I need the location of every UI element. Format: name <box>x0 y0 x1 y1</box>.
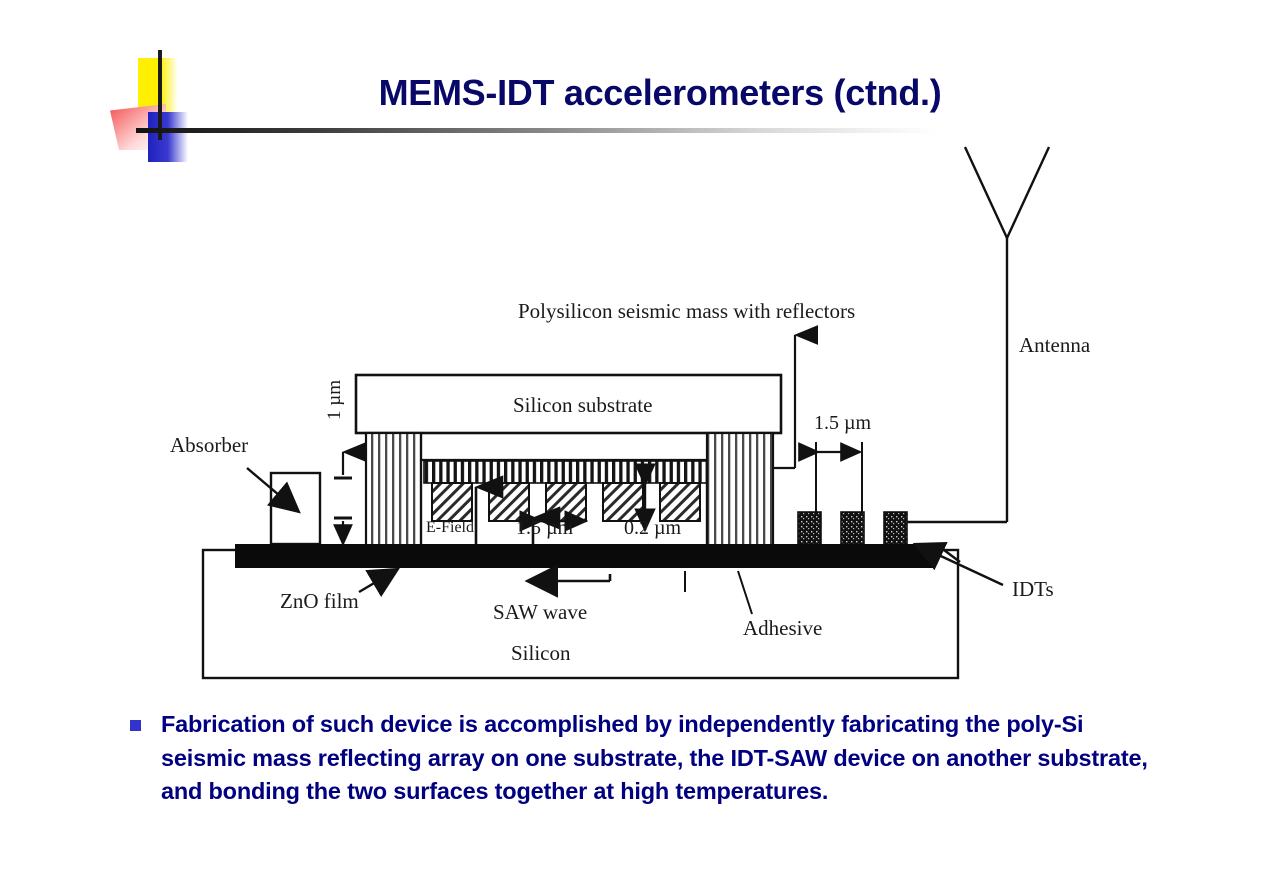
reflector-comb-band <box>424 461 707 483</box>
support-post-left <box>366 433 421 548</box>
slide-header: MEMS-IDT accelerometers (ctnd.) <box>0 0 1263 140</box>
dimension-reflector-gap-text: 0.2 µm <box>624 517 682 539</box>
label-absorber: Absorber <box>170 433 248 457</box>
dimension-reflector-pitch-text: 1.5 µm <box>516 517 574 539</box>
bullet-marker-icon <box>130 720 141 731</box>
label-silicon: Silicon <box>511 641 571 665</box>
bullet-list: Fabrication of such device is accomplish… <box>130 708 1170 809</box>
dimension-gap-height: 1 µm <box>324 380 352 544</box>
label-adhesive: Adhesive <box>743 616 822 640</box>
dimension-idt-pitch: 1.5 µm <box>814 412 872 434</box>
label-polysilicon-mass: Polysilicon seismic mass with reflectors <box>518 299 855 323</box>
list-item: Fabrication of such device is accomplish… <box>130 708 1170 809</box>
dimension-idt-pitch-text: 1.5 µm <box>814 412 872 434</box>
label-zno-film: ZnO film <box>280 589 359 613</box>
dimension-reflector-pitch: 1.5 µm <box>516 517 586 539</box>
label-saw-wave: SAW wave <box>493 600 587 624</box>
label-idts: IDTs <box>1012 577 1054 601</box>
decorative-logo <box>110 50 196 134</box>
label-e-field: E-Field <box>426 519 474 536</box>
page-title: MEMS-IDT accelerometers (ctnd.) <box>210 72 1110 114</box>
reflector-blocks <box>432 483 700 521</box>
logo-vertical-axis <box>158 50 162 140</box>
idt-electrodes <box>798 512 907 544</box>
bullet-text: Fabrication of such device is accomplish… <box>161 708 1170 809</box>
support-post-right <box>707 433 773 548</box>
device-cross-section-figure: Antenna Polysilicon seismic mass with re… <box>0 130 1263 705</box>
label-antenna: Antenna <box>1019 333 1091 357</box>
label-silicon-substrate: Silicon substrate <box>513 393 652 417</box>
dimension-gap-height-text: 1 µm <box>324 380 345 420</box>
